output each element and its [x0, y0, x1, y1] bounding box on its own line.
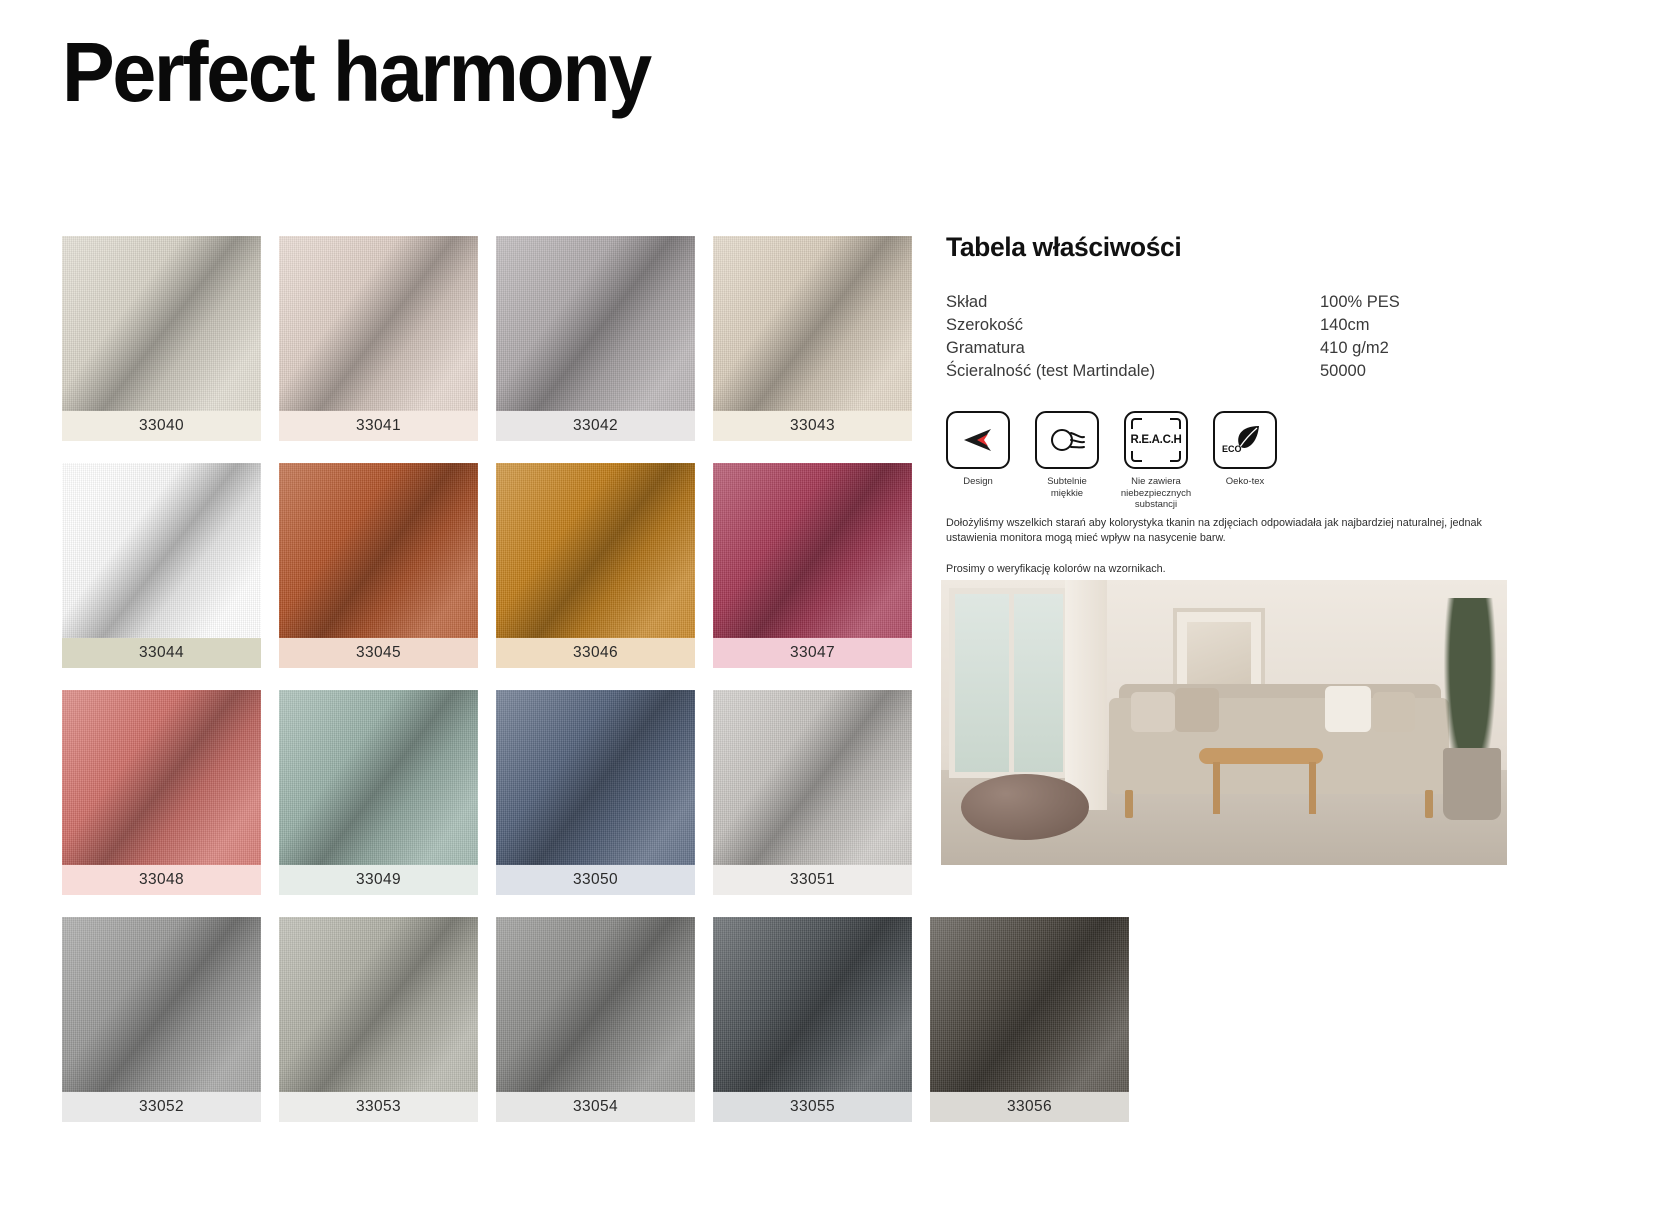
swatch-image[interactable] [279, 463, 478, 638]
design-arrow-icon-box [946, 411, 1010, 469]
properties-title: Tabela właściwości [946, 232, 1546, 263]
reach-label: R.E.A.C.H [1131, 434, 1182, 446]
swatch-image[interactable] [62, 917, 261, 1092]
swatch-code-label: 33056 [930, 1092, 1129, 1122]
swatch-row: 33044330453304633047 [62, 463, 922, 668]
swatch-image[interactable] [62, 690, 261, 865]
property-key: Szerokość [946, 314, 1023, 337]
sofa-leg [1425, 790, 1433, 818]
fabric-fold-shading [279, 236, 478, 411]
badge-caption: Oeko-tex [1209, 476, 1281, 488]
swatch-image[interactable] [713, 690, 912, 865]
swatch-code-label: 33044 [62, 638, 261, 668]
eco-label: ECO [1222, 444, 1242, 454]
plant-pot [1443, 748, 1501, 820]
certification-badge: R.E.A.C.HNie zawiera niebezpiecznych sub… [1124, 411, 1192, 511]
swatch-code-label: 33051 [713, 865, 912, 895]
fabric-fold-shading [713, 917, 912, 1092]
badge-caption: Design [942, 476, 1014, 488]
swatch-image[interactable] [496, 917, 695, 1092]
fabric-fold-shading [496, 917, 695, 1092]
fabric-fold-shading [930, 917, 1129, 1092]
photo-cushion [1175, 688, 1219, 732]
fabric-fold-shading [496, 236, 695, 411]
swatch-code-label: 33041 [279, 411, 478, 441]
swatch-code-label: 33042 [496, 411, 695, 441]
interior-photo [941, 580, 1507, 865]
property-row: Skład100% PES [946, 291, 1480, 314]
swatch-code-label: 33043 [713, 411, 912, 441]
swatch-row: 33048330493305033051 [62, 690, 922, 895]
property-row: Szerokość140cm [946, 314, 1480, 337]
fabric-swatch[interactable]: 33043 [713, 236, 912, 441]
fabric-fold-shading [279, 917, 478, 1092]
fabric-fold-shading [62, 463, 261, 638]
swatch-image[interactable] [496, 236, 695, 411]
fabric-swatch[interactable]: 33054 [496, 917, 695, 1122]
properties-panel: Tabela właściwości Skład100% PESSzerokoś… [946, 232, 1546, 511]
fabric-swatch[interactable]: 33041 [279, 236, 478, 441]
photo-cushion [1325, 686, 1371, 732]
fabric-swatch[interactable]: 33056 [930, 917, 1129, 1122]
fabric-swatch[interactable]: 33042 [496, 236, 695, 441]
swatch-code-label: 33046 [496, 638, 695, 668]
reach-icon-box: R.E.A.C.H [1124, 411, 1188, 469]
swatch-code-label: 33050 [496, 865, 695, 895]
catalog-page: Perfect harmony 330403304133042330433304… [0, 0, 1666, 1226]
certification-badge: Subtelnie miękkie [1035, 411, 1103, 511]
photo-cushion [1131, 692, 1175, 732]
window-mullion [1009, 594, 1014, 772]
fabric-swatch[interactable]: 33055 [713, 917, 912, 1122]
disclaimer: Dołożyliśmy wszelkich starań aby kolorys… [946, 516, 1518, 577]
swatch-image[interactable] [713, 917, 912, 1092]
swatch-image[interactable] [62, 236, 261, 411]
design-arrow-icon [961, 427, 995, 453]
swatch-code-label: 33053 [279, 1092, 478, 1122]
fabric-swatch[interactable]: 33045 [279, 463, 478, 668]
fabric-swatch[interactable]: 33050 [496, 690, 695, 895]
swatch-image[interactable] [930, 917, 1129, 1092]
photo-plant [1439, 598, 1501, 818]
swatch-image[interactable] [496, 463, 695, 638]
swatch-code-label: 33048 [62, 865, 261, 895]
fabric-fold-shading [713, 690, 912, 865]
swatch-code-label: 33052 [62, 1092, 261, 1122]
page-title: Perfect harmony [62, 28, 650, 116]
badge-caption: Nie zawiera niebezpiecznych substancji [1120, 476, 1192, 511]
fabric-swatch[interactable]: 33040 [62, 236, 261, 441]
fabric-swatch[interactable]: 33047 [713, 463, 912, 668]
property-row: Gramatura410 g/m2 [946, 337, 1480, 360]
fabric-fold-shading [496, 690, 695, 865]
swatch-image[interactable] [713, 236, 912, 411]
fabric-swatch[interactable]: 33049 [279, 690, 478, 895]
property-value: 100% PES [1320, 291, 1480, 314]
disclaimer-paragraph-1: Dołożyliśmy wszelkich starań aby kolorys… [946, 516, 1518, 546]
property-value: 140cm [1320, 314, 1480, 337]
fabric-fold-shading [713, 236, 912, 411]
eco-leaf-icon-box: ECO [1213, 411, 1277, 469]
swatch-code-label: 33049 [279, 865, 478, 895]
swatch-grid: 3304033041330423304333044330453304633047… [62, 236, 922, 1144]
certification-badge: Design [946, 411, 1014, 511]
fabric-swatch[interactable]: 33046 [496, 463, 695, 668]
swatch-image[interactable] [496, 690, 695, 865]
property-key: Ścieralność (test Martindale) [946, 360, 1155, 383]
property-row: Ścieralność (test Martindale)50000 [946, 360, 1480, 383]
photo-curtain [1065, 580, 1107, 810]
swatch-code-label: 33047 [713, 638, 912, 668]
properties-table: Skład100% PESSzerokość140cmGramatura410 … [946, 291, 1480, 383]
photo-window [949, 588, 1069, 778]
property-value: 410 g/m2 [1320, 337, 1480, 360]
soft-touch-icon [1047, 427, 1087, 453]
swatch-image[interactable] [279, 917, 478, 1092]
disclaimer-paragraph-2: Prosimy o weryfikację kolorów na wzornik… [946, 562, 1518, 577]
swatch-image[interactable] [713, 463, 912, 638]
fabric-swatch[interactable]: 33048 [62, 690, 261, 895]
property-value: 50000 [1320, 360, 1480, 383]
photo-pouf [961, 774, 1089, 840]
soft-touch-icon-box [1035, 411, 1099, 469]
property-key: Skład [946, 291, 987, 314]
swatch-image[interactable] [279, 236, 478, 411]
certification-badges: DesignSubtelnie miękkieR.E.A.C.HNie zawi… [946, 411, 1546, 511]
fabric-fold-shading [62, 917, 261, 1092]
fabric-swatch[interactable]: 33052 [62, 917, 261, 1122]
swatch-row: 3305233053330543305533056 [62, 917, 922, 1122]
swatch-image[interactable] [279, 690, 478, 865]
swatch-code-label: 33045 [279, 638, 478, 668]
badge-caption: Subtelnie miękkie [1031, 476, 1103, 499]
swatch-code-label: 33055 [713, 1092, 912, 1122]
fabric-swatch[interactable]: 33044 [62, 463, 261, 668]
sofa-leg [1125, 790, 1133, 818]
swatch-row: 33040330413304233043 [62, 236, 922, 441]
property-key: Gramatura [946, 337, 1025, 360]
photo-cushion [1373, 692, 1415, 732]
swatch-code-label: 33054 [496, 1092, 695, 1122]
fabric-fold-shading [713, 463, 912, 638]
fabric-fold-shading [62, 236, 261, 411]
swatch-image[interactable] [62, 463, 261, 638]
fabric-fold-shading [62, 690, 261, 865]
table-leg [1309, 762, 1316, 814]
certification-badge: ECOOeko-tex [1213, 411, 1281, 511]
fabric-swatch[interactable]: 33053 [279, 917, 478, 1122]
swatch-code-label: 33040 [62, 411, 261, 441]
fabric-fold-shading [496, 463, 695, 638]
fabric-swatch[interactable]: 33051 [713, 690, 912, 895]
fabric-fold-shading [279, 690, 478, 865]
table-leg [1213, 762, 1220, 814]
fabric-fold-shading [279, 463, 478, 638]
